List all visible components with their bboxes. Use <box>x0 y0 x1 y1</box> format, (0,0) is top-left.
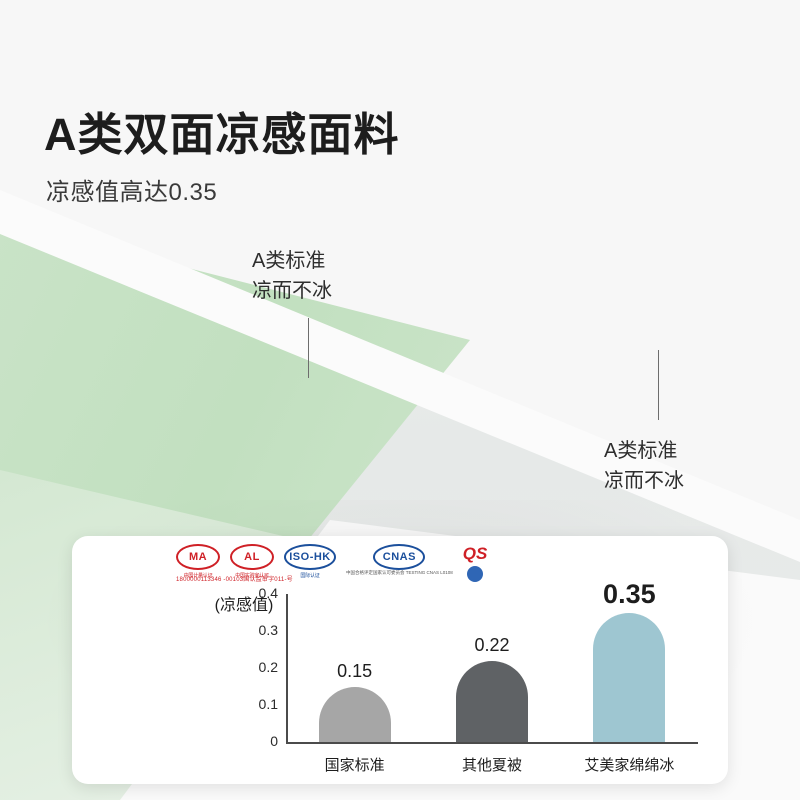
callout-left: A类标准 凉而不冰 <box>252 246 332 306</box>
page-root: A类双面凉感面料 凉感值高达0.35 A类标准 凉而不冰 A类标准 凉而不冰 M… <box>0 0 800 800</box>
cert-iso-icon: ISO-HK <box>284 544 336 570</box>
cert-cnas: CNAS 中国合格评定国家认可委员会 TESTING CNAS L0108 <box>346 544 453 576</box>
chart-card: MA 中国计量认证 AL 中国实验室认可 ISO-HK 国际认证 CNAS 中国… <box>72 536 728 784</box>
page-subtitle: 凉感值高达0.35 <box>46 172 217 207</box>
chart-y-tick: 0.2 <box>244 659 278 675</box>
globe-icon <box>467 566 483 582</box>
cert-ma-icon: MA <box>176 544 220 570</box>
chart-value-label: 0.22 <box>432 635 552 656</box>
chart-y-tick: 0 <box>244 733 278 749</box>
cert-cnas-icon: CNAS <box>373 544 425 570</box>
chart-x-label: 艾美家绵绵冰 <box>559 754 699 775</box>
cert-al-icon: AL <box>230 544 274 570</box>
cert-cnas-caption: 中国合格评定国家认可委员会 TESTING CNAS L0108 <box>346 570 453 576</box>
cert-iso-caption: 国际认证 <box>300 572 319 579</box>
chart-y-tick: 0.4 <box>244 585 278 601</box>
chart-y-tick: 0.3 <box>244 622 278 638</box>
chart-bar <box>319 687 391 743</box>
callout-right-line1: A类标准 <box>604 440 677 462</box>
chart-bar <box>593 613 665 743</box>
callout-left-leader-line <box>308 318 309 378</box>
chart-y-tick: 0.1 <box>244 696 278 712</box>
chart-value-label: 0.35 <box>569 579 689 610</box>
chart-x-axis <box>286 742 698 744</box>
chart-value-label: 0.15 <box>295 661 415 682</box>
callout-right-line2: 凉而不冰 <box>604 466 684 496</box>
chart-bar <box>456 661 528 742</box>
chart-x-label: 其他夏被 <box>422 754 562 775</box>
callout-right-leader-line <box>658 350 659 420</box>
callout-left-line2: 凉而不冰 <box>252 276 332 306</box>
cert-qs: QS <box>463 544 488 582</box>
chart-x-label: 国家标准 <box>285 754 425 775</box>
bar-chart: (凉感值) 00.10.20.30.4 国家标准其他夏被艾美家绵绵冰 0.150… <box>72 590 728 784</box>
cert-number: 1800000113346 -00103国认监审字011-号 <box>176 574 293 583</box>
cert-qs-icon: QS <box>463 544 488 564</box>
callout-right: A类标准 凉而不冰 <box>604 436 684 496</box>
callout-left-line1: A类标准 <box>252 250 325 272</box>
page-title: A类双面凉感面料 <box>44 98 400 163</box>
